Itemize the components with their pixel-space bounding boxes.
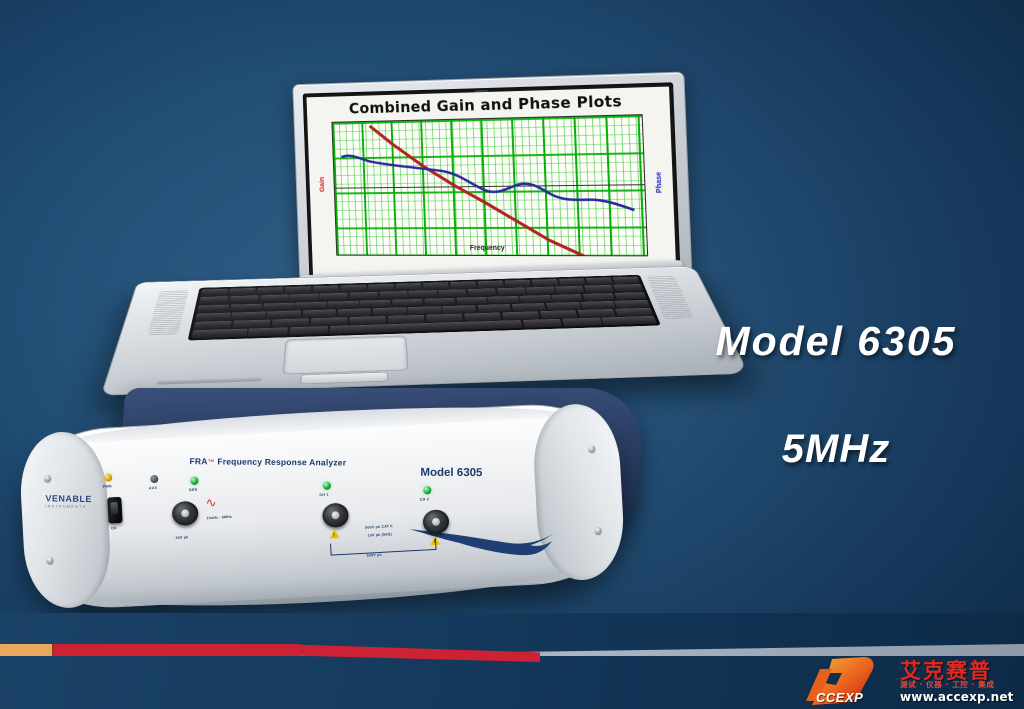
laptop-base (101, 266, 749, 396)
led-ch1-label: CH 1 (319, 493, 329, 498)
trackpad-button[interactable] (301, 372, 387, 383)
trackpad[interactable] (284, 336, 408, 374)
deck-vent (157, 377, 263, 384)
speaker-grille-left (147, 291, 188, 336)
chart-area: Gain Phase Frequency (331, 114, 648, 256)
instrument-model-label: Model 6305 (420, 467, 482, 479)
chart-traces (332, 115, 648, 256)
banner-stripe-orange (0, 644, 52, 656)
gen-limit-label: 40V pk (175, 535, 188, 540)
power-switch[interactable] (107, 497, 122, 524)
led-pwr-label: PWR (103, 484, 112, 488)
chart-plot (331, 114, 648, 256)
chart-axis-bottom-label: Frequency (336, 245, 648, 252)
accexp-mark-icon: CCEXP (802, 653, 898, 707)
watermark-chinese-tagline: 测试 · 仪器 · 工控 · 集成 (900, 679, 994, 690)
power-switch-label: ON (111, 526, 117, 530)
led-aux-label: AUX (149, 486, 158, 490)
instrument-front-panel: VENABLE INSTRUMENTS FRA™ Frequency Respo… (20, 400, 625, 612)
product-image: Combined Gain and Phase Plots Gain (0, 0, 1024, 709)
trademark-icon: ™ (208, 459, 215, 466)
chart-axis-right-label: Phase (656, 172, 664, 193)
chart-series-gain (370, 120, 607, 256)
fra-abbrev: FRA (189, 456, 207, 466)
venable-brand-sub: INSTRUMENTS (45, 504, 92, 509)
accexp-wordmark: CCEXP (816, 690, 863, 705)
watermark-logo: CCEXP 艾克赛普 测试 · 仪器 · 工控 · 集成 www.accexp.… (802, 653, 1020, 707)
led-ch2-label: CH 2 (420, 497, 430, 502)
laptop-screen: Combined Gain and Phase Plots Gain (306, 87, 676, 280)
chart-axis-left-label: Gain (319, 177, 326, 192)
bottom-banner: CCEXP 艾克赛普 测试 · 仪器 · 工控 · 集成 www.accexp.… (0, 613, 1024, 709)
keyboard[interactable] (188, 275, 661, 341)
fra-title: FRA™ Frequency Response Analyzer (189, 456, 346, 467)
venable-logo: VENABLE INSTRUMENTS (45, 493, 92, 509)
venable-brand-name: VENABLE (45, 493, 92, 504)
warning-triangle-icon (329, 529, 339, 539)
watermark-url: www.accexp.net (900, 690, 1014, 704)
fra-instrument: VENABLE INSTRUMENTS FRA™ Frequency Respo… (24, 388, 644, 618)
title-bandwidth: 5MHz (660, 427, 1012, 472)
input-rating-line3: 500V pk (367, 553, 382, 558)
banner-stripe-divider (52, 644, 54, 656)
fra-full-name: Frequency Response Analyzer (217, 456, 346, 467)
watermark-text-block: 艾克赛普 测试 · 仪器 · 工控 · 集成 www.accexp.net (900, 653, 1020, 707)
laptop-screen-bezel: Combined Gain and Phase Plots Gain (303, 82, 681, 283)
title-model: Model 6305 (660, 318, 1012, 365)
led-gen-label: GEN (189, 488, 198, 492)
sine-wave-icon: ∿ (205, 496, 217, 510)
product-titles: Model 6305 5MHz (660, 318, 1012, 472)
